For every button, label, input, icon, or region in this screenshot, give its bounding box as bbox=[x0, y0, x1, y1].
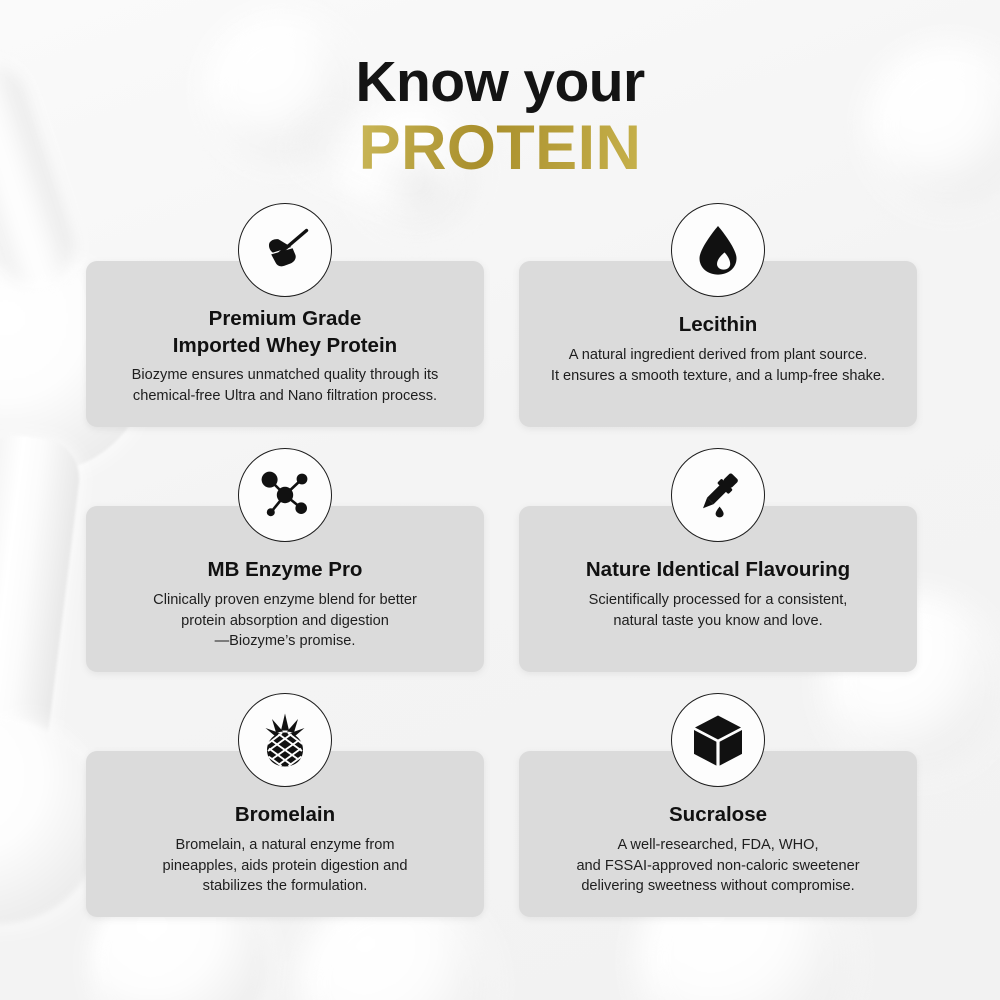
card-title: Nature Identical Flavouring bbox=[531, 556, 905, 583]
card-description: Biozyme ensures unmatched quality throug… bbox=[98, 365, 472, 406]
ingredient-card-nature-identical-flavouring[interactable]: Nature Identical Flavouring Scientifical… bbox=[519, 448, 917, 672]
infographic-page: Know your PROTEIN Premium Grade Imported… bbox=[0, 0, 1000, 1000]
card-row: MB Enzyme Pro Clinically proven enzyme b… bbox=[86, 448, 918, 693]
title-line-protein: PROTEIN bbox=[0, 114, 1000, 183]
card-description: Scientifically processed for a consisten… bbox=[531, 590, 905, 631]
card-text-block: Premium Grade Imported Whey Protein Bioz… bbox=[86, 305, 484, 407]
molecule-icon bbox=[238, 448, 332, 542]
cube-icon bbox=[671, 693, 765, 787]
ingredient-card-lecithin[interactable]: Lecithin A natural ingredient derived fr… bbox=[519, 203, 917, 427]
card-title: MB Enzyme Pro bbox=[98, 556, 472, 583]
ingredient-card-mb-enzyme-pro[interactable]: MB Enzyme Pro Clinically proven enzyme b… bbox=[86, 448, 484, 672]
title-line-know-your: Know your bbox=[0, 52, 1000, 112]
ingredient-card-bromelain[interactable]: Bromelain Bromelain, a natural enzyme fr… bbox=[86, 693, 484, 917]
dropper-pipette-icon bbox=[671, 448, 765, 542]
card-description: Clinically proven enzyme blend for bette… bbox=[98, 590, 472, 652]
card-text-block: Nature Identical Flavouring Scientifical… bbox=[519, 556, 917, 631]
card-title: Sucralose bbox=[531, 801, 905, 828]
card-text-block: Lecithin A natural ingredient derived fr… bbox=[519, 311, 917, 386]
protein-scoop-icon bbox=[238, 203, 332, 297]
card-title: Bromelain bbox=[98, 801, 472, 828]
pineapple-icon bbox=[238, 693, 332, 787]
ingredient-card-premium-grade-imported-whey-protein[interactable]: Premium Grade Imported Whey Protein Bioz… bbox=[86, 203, 484, 427]
card-title: Lecithin bbox=[531, 311, 905, 338]
card-description: Bromelain, a natural enzyme from pineapp… bbox=[98, 835, 472, 897]
card-row: Bromelain Bromelain, a natural enzyme fr… bbox=[86, 693, 918, 938]
bg-rod bbox=[0, 431, 84, 771]
ingredient-card-grid: Premium Grade Imported Whey Protein Bioz… bbox=[86, 203, 918, 938]
page-title: Know your PROTEIN bbox=[0, 52, 1000, 184]
card-title: Premium Grade Imported Whey Protein bbox=[98, 305, 472, 359]
card-description: A natural ingredient derived from plant … bbox=[531, 345, 905, 386]
card-row: Premium Grade Imported Whey Protein Bioz… bbox=[86, 203, 918, 448]
card-text-block: MB Enzyme Pro Clinically proven enzyme b… bbox=[86, 556, 484, 652]
water-droplet-icon bbox=[671, 203, 765, 297]
card-text-block: Sucralose A well-researched, FDA, WHO, a… bbox=[519, 801, 917, 897]
card-description: A well-researched, FDA, WHO, and FSSAI-a… bbox=[531, 835, 905, 897]
card-text-block: Bromelain Bromelain, a natural enzyme fr… bbox=[86, 801, 484, 897]
ingredient-card-sucralose[interactable]: Sucralose A well-researched, FDA, WHO, a… bbox=[519, 693, 917, 917]
